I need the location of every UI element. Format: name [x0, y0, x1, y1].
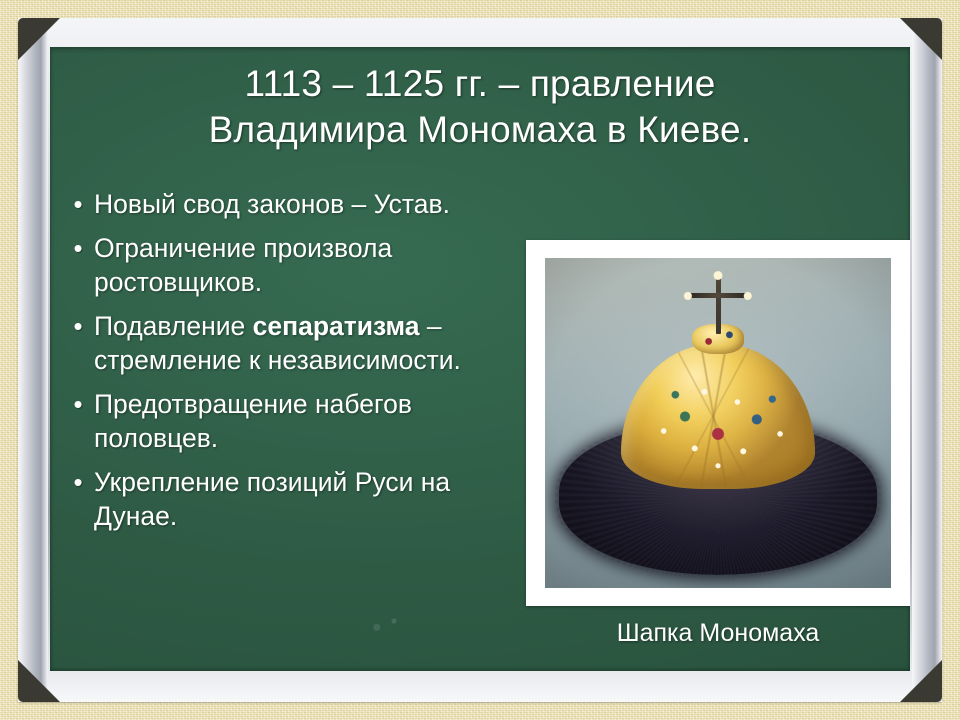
bullet-marker-icon: • [62, 465, 94, 499]
list-item-label: Предотвращение набегов половцев. [94, 387, 492, 455]
list-item-separatizm: • Подавление сепаратизма – стремление к … [62, 309, 492, 377]
frame-rail-right [912, 18, 942, 702]
list-item-ustav: • Новый свод законов – Устав. [62, 187, 492, 221]
picture-block: Шапка Мономаха [526, 240, 910, 648]
list-item-polovtsy: • Предотвращение набегов половцев. [62, 387, 492, 455]
list-item-text-emphasis: сепаратизма [253, 311, 420, 341]
photo-vignette [545, 258, 891, 588]
bullet-marker-icon: • [62, 309, 94, 343]
list-item-label: Новый свод законов – Устав. [94, 187, 492, 221]
list-item-rostovshchiki: • Ограничение произвола ростовщиков. [62, 231, 492, 299]
chalkboard-surface: 1113 – 1125 гг. – правление Владимира Мо… [50, 47, 910, 671]
photo-caption: Шапка Мономаха [526, 618, 910, 648]
list-item-text-pre: Подавление [94, 311, 253, 341]
whiteboard-frame: 1113 – 1125 гг. – правление Владимира Мо… [18, 18, 942, 702]
list-item-label: Подавление сепаратизма – стремление к не… [94, 309, 492, 377]
photo-mat-border [526, 240, 910, 606]
list-item-dunay: • Укрепление позиций Руси на Дунае. [62, 465, 492, 533]
bullet-marker-icon: • [62, 187, 94, 221]
list-item-label: Ограничение произвола ростовщиков. [94, 231, 492, 299]
bullet-list: • Новый свод законов – Устав. • Ограниче… [62, 187, 492, 533]
bullet-marker-icon: • [62, 387, 94, 421]
bullet-marker-icon: • [62, 231, 94, 265]
monomakh-cap-photo [545, 258, 891, 588]
slide-title: 1113 – 1125 гг. – правление Владимира Мо… [50, 61, 910, 153]
list-item-text-pre: Ограничение произвола ростовщиков. [94, 233, 392, 297]
list-item-label: Укрепление позиций Руси на Дунае. [94, 465, 492, 533]
frame-rail-left [18, 18, 48, 702]
